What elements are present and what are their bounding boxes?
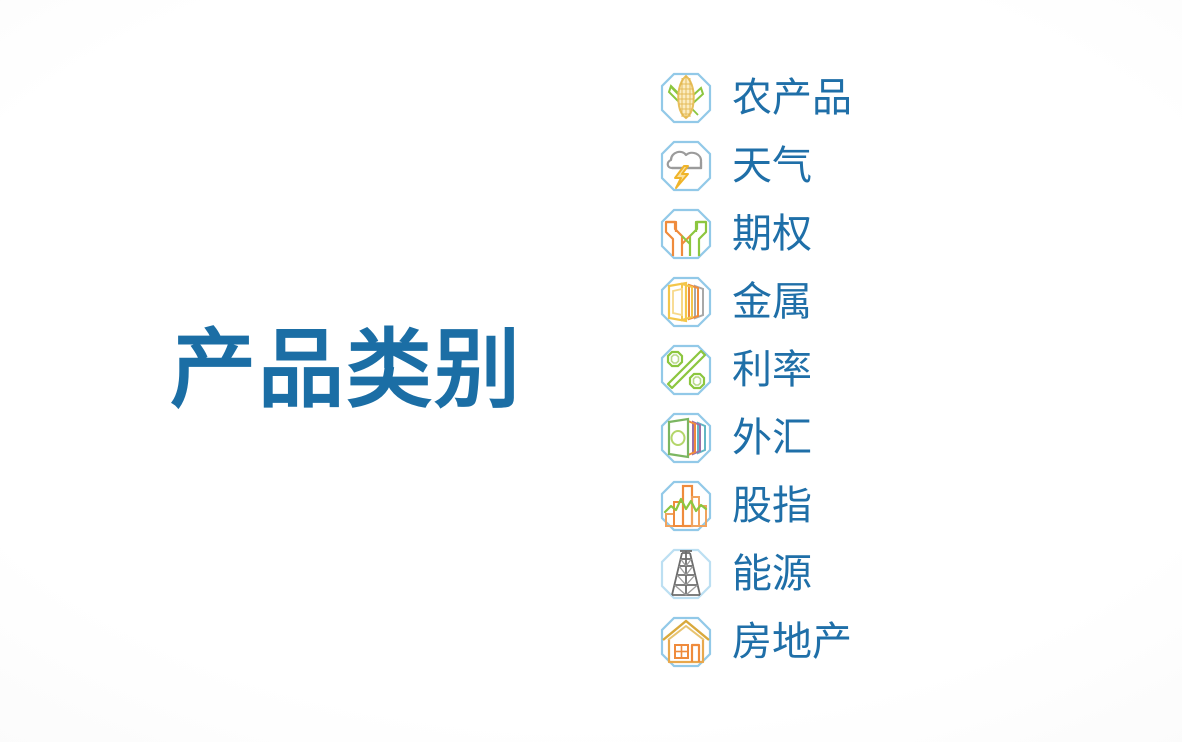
list-item-label: 农产品: [732, 78, 852, 118]
metal-bars-icon: [658, 274, 714, 330]
list-item[interactable]: 外汇: [658, 404, 1098, 472]
list-item-label: 房地产: [732, 622, 852, 662]
list-item-label: 能源: [732, 554, 812, 594]
page-title: 产品类别: [170, 327, 522, 413]
list-item[interactable]: 房地产: [658, 608, 1098, 676]
list-item[interactable]: 天气: [658, 132, 1098, 200]
list-item-label: 外汇: [732, 418, 812, 458]
list-item-label: 股指: [732, 486, 812, 526]
list-item[interactable]: 利率: [658, 336, 1098, 404]
list-item-label: 金属: [732, 282, 812, 322]
list-item[interactable]: 股指: [658, 472, 1098, 540]
list-item-label: 期权: [732, 214, 812, 254]
oil-derrick-energy-icon: [658, 546, 714, 602]
list-item-label: 利率: [732, 350, 812, 390]
slide-canvas: 产品类别 农产品: [0, 0, 1182, 742]
list-item[interactable]: 期权: [658, 200, 1098, 268]
category-list: 农产品 天气: [658, 64, 1098, 676]
branching-arrows-options-icon: [658, 206, 714, 262]
list-item[interactable]: 能源: [658, 540, 1098, 608]
cloud-lightning-weather-icon: [658, 138, 714, 194]
banknotes-forex-icon: [658, 410, 714, 466]
percent-interest-rate-icon: [658, 342, 714, 398]
list-item-label: 天气: [732, 146, 812, 186]
corn-agriculture-icon: [658, 70, 714, 126]
title-block: 产品类别: [170, 315, 590, 425]
list-item[interactable]: 农产品: [658, 64, 1098, 132]
house-real-estate-icon: [658, 614, 714, 670]
list-item[interactable]: 金属: [658, 268, 1098, 336]
buildings-stock-index-icon: [658, 478, 714, 534]
